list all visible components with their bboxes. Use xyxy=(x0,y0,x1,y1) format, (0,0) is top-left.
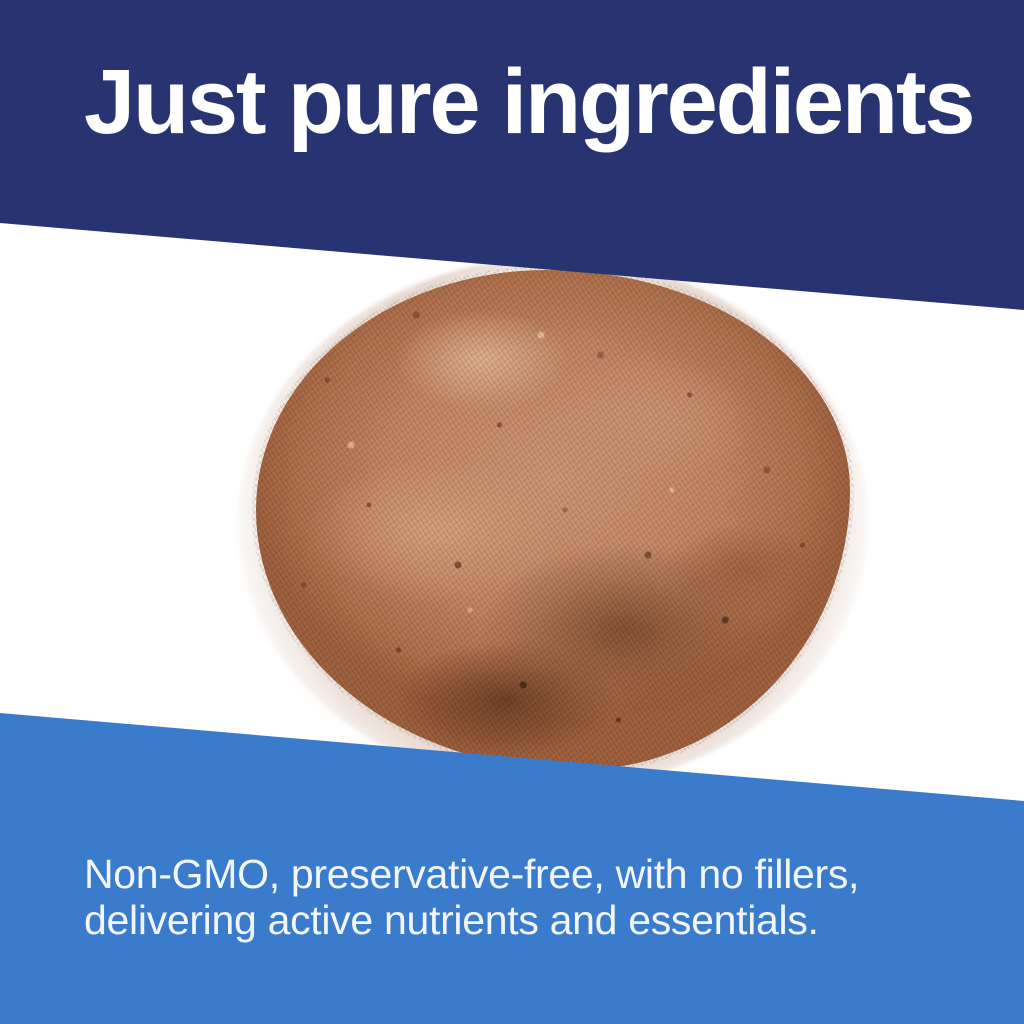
powder-mound xyxy=(256,270,850,770)
supporting-copy-line-1: Non-GMO, preservative-free, with no fill… xyxy=(84,851,944,897)
marketing-poster: Just pure ingredients Non-GMO, preservat… xyxy=(0,0,1024,1024)
supporting-copy: Non-GMO, preservative-free, with no fill… xyxy=(84,851,944,944)
supporting-copy-line-2: delivering active nutrients and essentia… xyxy=(84,897,944,943)
powder-product-image xyxy=(238,258,868,788)
page-title: Just pure ingredients xyxy=(84,56,964,148)
